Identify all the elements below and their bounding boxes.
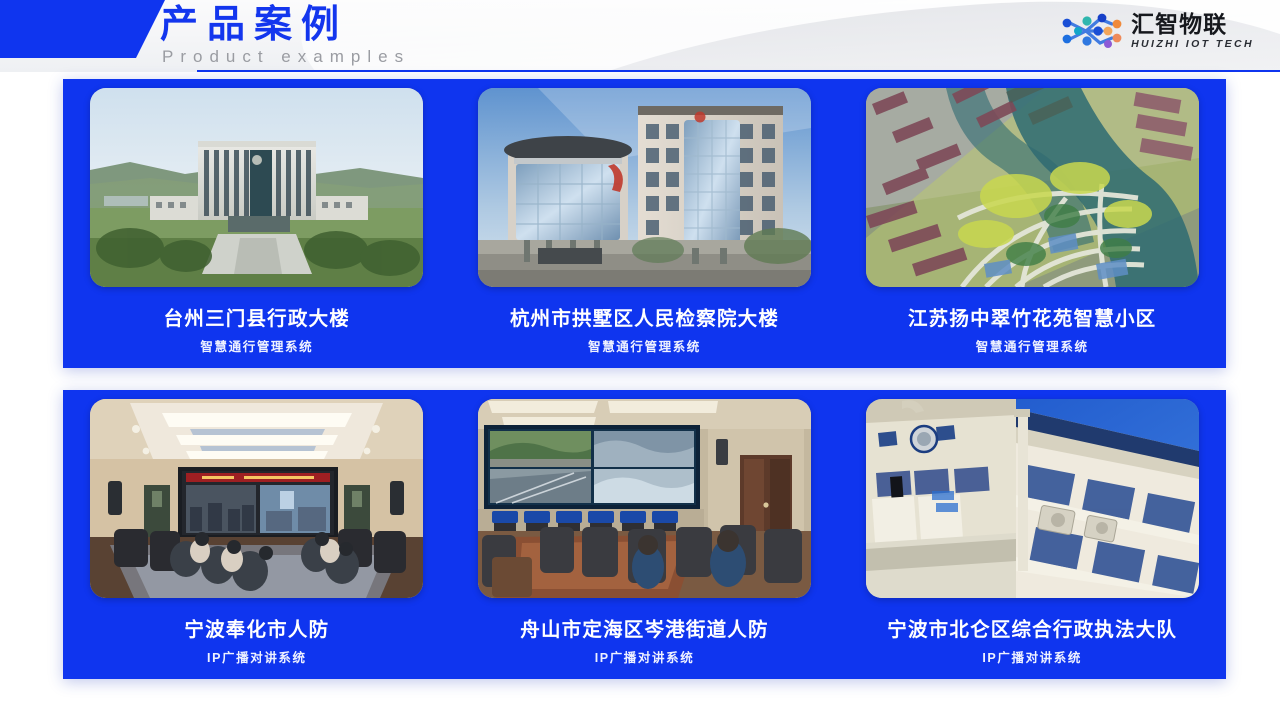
case-card-title: 宁波市北仑区综合行政执法大队: [887, 618, 1177, 642]
case-card[interactable]: 台州三门县行政大楼 智慧通行管理系统: [63, 79, 451, 368]
case-card-title: 杭州市拱墅区人民检察院大楼: [510, 307, 779, 331]
case-card-list-row-2: 宁波奉化市人防 IP广播对讲系统: [63, 390, 1226, 679]
page-title-group: 产品案例 Product examples: [160, 2, 410, 68]
case-card-title: 舟山市定海区岑港街道人防: [520, 618, 768, 642]
page-subtitle: Product examples: [162, 46, 410, 68]
ningbo-beilun-law-enforcement-brigade-photo: [866, 399, 1199, 598]
page-title: 产品案例: [160, 2, 410, 48]
case-card-list-row-1: 台州三门县行政大楼 智慧通行管理系统: [63, 79, 1226, 368]
case-card[interactable]: 杭州市拱墅区人民检察院大楼 智慧通行管理系统: [451, 79, 839, 368]
case-panel-row-2: 宁波奉化市人防 IP广播对讲系统: [63, 390, 1226, 679]
case-card-subtitle: IP广播对讲系统: [982, 650, 1082, 666]
case-card-subtitle: 智慧通行管理系统: [200, 339, 313, 355]
case-panel-row-1: 台州三门县行政大楼 智慧通行管理系统: [63, 79, 1226, 368]
case-card[interactable]: 宁波市北仑区综合行政执法大队 IP广播对讲系统: [838, 390, 1226, 679]
ningbo-fenghua-civil-defense-photo: [90, 399, 423, 598]
header-blue-underline-bar: [197, 70, 1280, 72]
case-card-subtitle: IP广播对讲系统: [207, 650, 307, 666]
case-card[interactable]: 宁波奉化市人防 IP广播对讲系统: [63, 390, 451, 679]
case-card-title: 宁波奉化市人防: [184, 618, 329, 642]
hangzhou-gongshu-procuratorate-building-photo: [478, 88, 811, 287]
taizhou-sanmen-administration-building-photo: [90, 88, 423, 287]
case-card[interactable]: 舟山市定海区岑港街道人防 IP广播对讲系统: [451, 390, 839, 679]
case-card-subtitle: 智慧通行管理系统: [588, 339, 701, 355]
molecule-network-logo-icon: [1062, 11, 1124, 51]
brand-logo: 汇智物联 HUIZHI IOT TECH: [1062, 11, 1254, 51]
page-header: 产品案例 Product examples: [0, 0, 1280, 72]
case-card-title: 台州三门县行政大楼: [164, 307, 350, 331]
brand-name-cn: 汇智物联: [1131, 11, 1254, 37]
case-card-subtitle: 智慧通行管理系统: [976, 339, 1089, 355]
brand-logo-text: 汇智物联 HUIZHI IOT TECH: [1131, 11, 1254, 51]
case-card-title: 江苏扬中翠竹花苑智慧小区: [908, 307, 1156, 331]
header-blue-parallelogram: [0, 0, 165, 58]
jiangsu-yangzhong-cuizhu-huayuan-smart-community-photo: [866, 88, 1199, 287]
case-card[interactable]: 江苏扬中翠竹花苑智慧小区 智慧通行管理系统: [838, 79, 1226, 368]
brand-name-en: HUIZHI IOT TECH: [1131, 37, 1254, 51]
case-card-subtitle: IP广播对讲系统: [595, 650, 695, 666]
zhoushan-dinghai-cengang-civil-defense-photo: [478, 399, 811, 598]
